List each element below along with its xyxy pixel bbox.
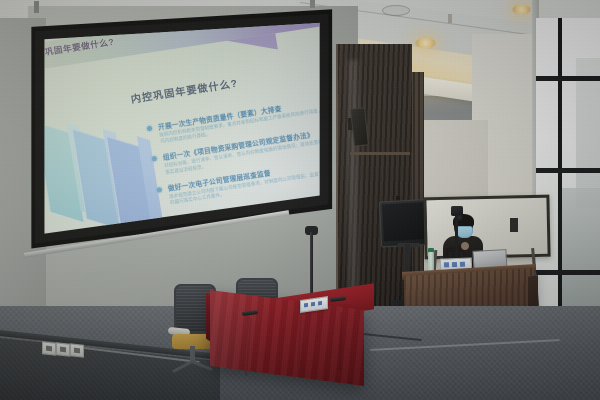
name-card-text-mark — [304, 303, 308, 308]
downlight-icon — [415, 38, 436, 48]
outside-building — [560, 188, 600, 308]
wall-power-outlet[interactable] — [56, 342, 70, 356]
downlight-icon — [512, 5, 531, 14]
window-transom — [536, 270, 600, 275]
wall-power-outlet[interactable] — [70, 343, 84, 357]
placard-text-mark — [444, 262, 449, 267]
screen-mount-bracket — [310, 0, 315, 8]
outlet-socket-icon — [60, 347, 66, 353]
outlet-socket-icon — [46, 346, 52, 352]
slide-title: 内控巩固年要做什么? — [130, 74, 239, 105]
wall-power-outlet[interactable] — [42, 341, 56, 355]
slide-bullet-list: 开展一次生产物资质量件（要素）大排查 按照内控机构相关管理制度要求，重点对采购招… — [157, 94, 334, 213]
name-card-text-mark — [318, 301, 322, 306]
screen-mount-bracket — [34, 1, 39, 13]
whiteboard-clip — [510, 218, 518, 232]
window-transom — [536, 168, 600, 173]
placard-text-mark — [460, 262, 465, 267]
outlet-socket-icon — [74, 348, 80, 354]
window-mullion — [558, 18, 562, 348]
sprinkler-icon — [448, 14, 452, 23]
name-card-text-mark — [311, 302, 315, 307]
water-bottle — [428, 252, 434, 272]
conference-room-photo: 内控巩固年要做什么? 内控巩固年要做什么? 开展一次生产物资质量件（要素）大排查… — [0, 0, 600, 400]
window-transom — [536, 76, 600, 81]
camera-lens-icon — [456, 214, 463, 221]
face-mask-icon — [456, 226, 473, 238]
window-wall — [536, 18, 600, 348]
placard-text-mark — [452, 262, 457, 267]
tripod-pole — [455, 216, 458, 258]
presenter-hand — [461, 242, 469, 250]
wood-panel-shelf — [350, 152, 410, 155]
